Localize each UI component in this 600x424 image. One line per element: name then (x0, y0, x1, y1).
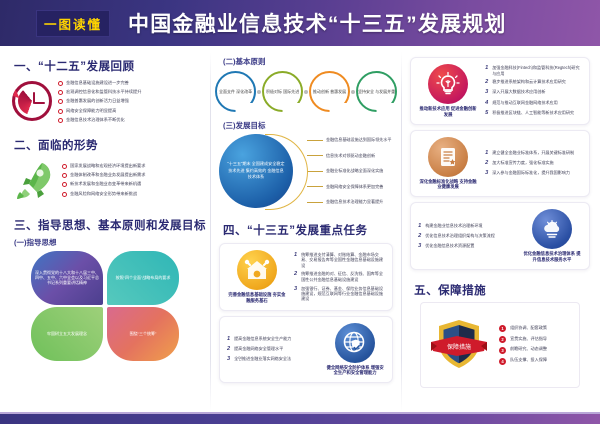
list-item-label: 深入开展大数据技术应用创新 (492, 89, 545, 94)
item-number: 2 (485, 79, 488, 86)
goal-item-label: 信息技术对领驱动金融创新 (326, 153, 375, 159)
list-item-label: 提高金融信息系统安全生产能力 (234, 336, 291, 341)
section-5-heading: 五、保障措施 (414, 282, 594, 298)
list-item: 3加强银行、证券、基金、保险业务信息基础设施建设，规范互联网等行业金融信息基础设… (294, 286, 385, 302)
development-goals-diagram: “十三五”期末 全国建成安全稳定 技术先进 集约高效的 金融信息技术体系 金融信… (215, 134, 397, 208)
list-item-label: 全면推进金融业落实网络安全法 (234, 356, 291, 361)
item-number: 1 (418, 223, 421, 230)
list-item-label: 加大标准宣传力度，强化标准实施 (492, 160, 553, 165)
list-item: 金融信息基础设施建设进一步完善 (58, 80, 141, 86)
section-3-sub-2: (二)基本原则 (223, 56, 397, 67)
standards-list: 1建立健全金融业标准体系，开展关键标准研制 2加大标准宣传力度，强化标准实施 3… (485, 150, 582, 177)
principle-label: 积极对标 国际先进 (266, 89, 299, 94)
ring-connector (257, 90, 261, 94)
item-number: 5 (485, 110, 488, 117)
left-column: 一、“十二五”发展回顾 金融信息基础设施建设进一步完善 宏观调控信息化和监管科技… (6, 52, 206, 412)
section-2-content: 国家发展战略和宏观经济环境提出新要求 金融体制改革和金融业务发展提出新需求 新技… (6, 157, 206, 203)
ring-connector (351, 90, 355, 94)
guarantee-measures-card: 保障措施 1组织协调、配套政策 2宣贯实施、评估指导 3前瞻研究、动态调整 4队… (420, 302, 580, 388)
task-1-caption: 完善金融信息基础设施 夯实金融服务基石 (227, 292, 287, 304)
globe-shield-icon (335, 323, 375, 363)
task-2-caption: 健全网络安全防护体系 增强安全生产和安全管理能力 (325, 365, 385, 377)
connector-line (307, 202, 323, 203)
list-item-label: 提高金融网络安全管理水平 (234, 346, 283, 351)
infographic-board: 一、“十二五”发展回顾 金融信息基础设施建设进一步完善 宏观调控信息化和监管科技… (0, 46, 600, 412)
petal-4: 围绕“三个统筹” (107, 307, 179, 361)
list-item-label: 金融普惠发展的创新活力日益增强 (66, 98, 129, 103)
item-number: 3 (227, 356, 230, 363)
lightbulb-icon-block: 推动新技术应用 促进金融创新发展 (418, 64, 478, 118)
task-2-list: 1提高金融信息系统安全生产能力 2提高金融网络安全管理水平 3全면推进金融业落实… (227, 336, 318, 363)
list-item: 2宣贯实施、评估指导 (499, 336, 573, 344)
cloud-icon-block: 优化金融信息技术治理体系 提升信息技术服务水平 (522, 209, 582, 263)
section-3-sub-1: (一)指导思想 (14, 237, 206, 248)
lightbulb-list: 1加强金融科技(Fintech)和监管科技(Regtech)研究与应用 2稳步推… (485, 65, 582, 116)
item-number: 1 (485, 65, 488, 72)
bullet-dot-icon (62, 182, 67, 187)
column-divider (401, 52, 402, 412)
task-1-icon-block: 完善金融信息基础设施 夯实金融服务基石 (227, 250, 287, 304)
item-number: 1 (485, 150, 488, 157)
list-item: 3前瞻研究、动态调整 (499, 346, 573, 354)
standards-caption: 深化金融标准化战略 支持金融业健康发展 (418, 179, 478, 191)
list-item: 1统筹推进支付清算、对账结算、金融市场交易、交易报告库等全国性金融信息基础设施建… (294, 252, 385, 268)
section-4-heading: 四、“十三五”发展重点任务 (223, 222, 397, 238)
goal-item: 金融业标准化战略全面深化实施 (307, 168, 392, 174)
list-item: 3优化金融信息技术资源配置 (418, 243, 515, 250)
header-badge: 一图读懂 (36, 10, 110, 37)
list-item-label: 统筹推进金融的对、征信、反洗钱、国库等全国性公共金融信息基础设施建设 (301, 271, 385, 282)
item-number: 1 (499, 325, 506, 332)
list-item: 金融体制改革和金融业务发展提出新需求 (62, 172, 145, 178)
goal-item: 金融网络安全保障体系更加完善 (307, 184, 392, 190)
task-card-1: 完善金融信息基础设施 夯实金融服务基石 1统筹推进支付清算、对账结算、金融市场交… (219, 243, 393, 311)
section-1-heading: 一、“十二五”发展回顾 (14, 58, 206, 74)
list-item: 3全면推进金融业落实网络安全法 (227, 356, 318, 363)
item-number: 4 (485, 100, 488, 107)
list-item-label: 深入参与金融国际标准化，提升我国影响力 (492, 170, 570, 175)
list-item: 1加强金融科技(Fintech)和监管科技(Regtech)研究与应用 (485, 65, 582, 76)
bank-building-icon (237, 250, 277, 290)
bullet-dot-icon (62, 192, 67, 197)
list-item: 2加大标准宣传力度，强化标准实施 (485, 160, 582, 167)
section-2-list: 国家发展战略和宏观经济环境提出新要求 金融体制改革和金融业务发展提出新需求 新技… (62, 163, 145, 197)
list-item: 1组织协调、配套政策 (499, 325, 573, 333)
list-item: 3深入开展大数据技术应用创新 (485, 89, 582, 96)
connector-line (307, 140, 323, 141)
list-item-label: 宣贯实施、评估指导 (510, 336, 547, 341)
feature-card-lightbulb: 推动新技术应用 促进金融创新发展 1加强金融科技(Fintech)和监管科技(R… (410, 57, 590, 125)
list-item: 金融普惠发展的创新活力日益增强 (58, 98, 141, 104)
connector-line (307, 155, 323, 156)
task-1-list: 1统筹推进支付清算、对账结算、金融市场交易、交易报告库等全国性金融信息基础设施建… (294, 252, 385, 301)
goal-item-label: 金融网络安全保障体系更加完善 (326, 184, 383, 190)
item-number: 2 (418, 233, 421, 240)
item-number: 2 (485, 160, 488, 167)
item-number: 2 (227, 346, 230, 353)
svg-text:保障措施: 保障措施 (447, 343, 471, 351)
list-item-label: 网络安全保障能力明显提高 (66, 108, 116, 113)
feature-card-governance: 1构建金融业信息技术治理新环境 2优化信息技术治理组织架构与决策流程 3优化金融… (410, 202, 590, 270)
list-item-label: 金融体制改革和金融业务发展提出新需求 (70, 172, 145, 177)
page-footer (0, 412, 600, 424)
list-item-label: 组织协调、配套政策 (510, 325, 547, 330)
principle-ring-4: 坚持安全 与发展并重 (356, 71, 397, 112)
principle-ring-2: 积极对标 国际先进 (262, 71, 303, 112)
task-card-2: 1提高金融信息系统安全生产能力 2提高金融网络安全管理水平 3全면推进金融业落实… (219, 316, 393, 384)
bullet-dot-icon (62, 164, 67, 169)
governance-caption: 优化金融信息技术治理体系 提升信息技术服务水平 (522, 251, 582, 263)
list-item: 3深入参与金融国际标准化，提升我国影响力 (485, 170, 582, 177)
list-item: 宏观调控信息化和监管科技水平持续提升 (58, 89, 141, 95)
principle-label: 推动创新 普惠发展 (313, 89, 346, 94)
list-item: 4规范与推动互联网金融网络技术应用 (485, 100, 582, 107)
list-item: 1提高金融信息系统安全生产能力 (227, 336, 318, 343)
item-number: 4 (499, 358, 506, 365)
list-item-label: 统筹推进支付清算、对账结算、金融市场交易、交易报告库等全国性金融信息基础设施建设 (301, 252, 385, 268)
item-number: 1 (294, 252, 297, 259)
goal-item-label: 金融信息基础设施达到国际领先水平 (326, 137, 392, 143)
clock-icon (12, 81, 52, 121)
right-column: 推动新技术应用 促进金融创新发展 1加强金融科技(Fintech)和监管科技(R… (406, 52, 594, 412)
list-item: 网络安全保障能力明显提高 (58, 108, 141, 114)
page-title: 中国金融业信息技术“十三五”发展规划 (128, 8, 507, 38)
list-item-label: 加强银行、证券、基金、保险业务信息基础设施建设，规范互联网等行业金融信息基础设施… (301, 286, 385, 302)
list-item-label: 金融风险和网络安全形势带来新挑战 (70, 191, 137, 196)
list-item-label: 加强金融科技(Fintech)和监管科技(Regtech)研究与应用 (492, 65, 582, 76)
principle-label: 坚持安全 与发展并重 (358, 89, 395, 94)
item-number: 2 (294, 271, 297, 278)
list-item-label: 积极推进区块链、人工智能等新技术应用研究 (492, 110, 574, 115)
cloud-icon (532, 209, 572, 249)
petal-2: 按照“四个全面”战略布局的要求 (107, 251, 179, 305)
guarantee-list: 1组织协调、配套政策 2宣贯实施、评估指导 3前瞻研究、动态调整 4队伍支撑、投… (499, 325, 573, 365)
connector-line (307, 186, 323, 187)
list-item-label: 优化金融信息技术资源配置 (425, 243, 474, 248)
list-item-label: 金融信息基础设施建设进一步完善 (66, 80, 129, 85)
list-item-label: 前瞻研究、动态调整 (510, 346, 547, 351)
list-item-label: 队伍支撑、投入保障 (510, 357, 547, 362)
section-3-heading: 三、指导思想、基本原则和发展目标 (14, 217, 206, 233)
item-number: 3 (418, 243, 421, 250)
list-item-label: 规范与推动互联网金融网络技术应用 (492, 100, 558, 105)
principle-label: 全面支件 深化改革 (219, 89, 252, 94)
section-3-sub-3: (三)发展目标 (223, 120, 397, 131)
bullet-dot-icon (58, 109, 63, 114)
list-item: 国家发展战略和宏观经济环境提出新要求 (62, 163, 145, 169)
goal-item-label: 金融业标准化战略全面深化实施 (326, 168, 383, 174)
item-number: 3 (485, 89, 488, 96)
section-1-list: 金融信息基础设施建设进一步完善 宏观调控信息化和监管科技水平持续提升 金融普惠发… (58, 80, 141, 123)
section-1-content: 金融信息基础设施建设进一步完善 宏观调控信息化和监管科技水平持续提升 金融普惠发… (6, 78, 206, 125)
list-item-label: 国家发展战略和宏观经济环境提出新要求 (70, 163, 145, 168)
connector-line (307, 171, 323, 172)
list-item-label: 构建金融业信息技术治理新环境 (425, 223, 482, 228)
goal-item: 金融信息技术治理能力显著提升 (307, 199, 392, 205)
list-item: 金融信息技术治理体系不断优化 (58, 117, 141, 123)
middle-column: (二)基本原则 全面支件 深化改革 积极对标 国际先进 推动创新 普惠发展 坚持… (215, 52, 397, 412)
basic-principles-diagram: 全面支件 深化改革 积极对标 国际先进 推动创新 普惠发展 坚持安全 与发展并重 (215, 71, 397, 112)
item-number: 3 (294, 286, 297, 293)
list-item: 金融风险和网络安全形势带来新挑战 (62, 191, 145, 197)
petal-1: 深入贯彻党的十八大和十八届三中、四中、五中、六中全会以及习近平总书记系列重要讲话… (31, 251, 103, 305)
lightbulb-caption: 推动新技术应用 促进金融创新发展 (418, 106, 478, 118)
list-item: 2统筹推进金融的对、征信、反洗钱、国库等全国性公共金融信息基础设施建设 (294, 271, 385, 282)
goal-item-label: 金融信息技术治理能力显著提升 (326, 199, 383, 205)
bullet-dot-icon (58, 81, 63, 86)
list-item: 5积极推进区块链、人工智能等新技术应用研究 (485, 110, 582, 117)
goal-items-list: 金融信息基础设施达到国际领先水平 信息技术对领驱动金融创新 金融业标准化战略全面… (307, 134, 392, 208)
document-star-icon (428, 137, 468, 177)
ring-connector (304, 90, 308, 94)
rocket-icon (12, 159, 56, 201)
list-item: 2优化信息技术治理组织架构与决策流程 (418, 233, 515, 240)
principle-ring-3: 推动创新 普惠发展 (309, 71, 350, 112)
list-item: 新技术发展和金融业态变革带来新机遇 (62, 181, 145, 187)
goal-item: 金融信息基础设施达到国际领先水平 (307, 137, 392, 143)
bullet-dot-icon (58, 99, 63, 104)
list-item-label: 建立健全金融业标准体系，开展关键标准研制 (492, 150, 574, 155)
bullet-dot-icon (58, 118, 63, 123)
petal-3: 牢固树立五大发展理念 (31, 307, 103, 361)
page-header: 一图读懂 中国金融业信息技术“十三五”发展规划 (0, 0, 600, 46)
list-item-label: 新技术发展和金融业态变革带来新机遇 (70, 181, 141, 186)
list-item-label: 优化信息技术治理组织架构与决策流程 (425, 233, 495, 238)
list-item-label: 宏观调控信息化和监管科技水平持续提升 (66, 89, 141, 94)
list-item: 2提高金融网络安全管理水平 (227, 346, 318, 353)
item-number: 3 (485, 170, 488, 177)
list-item-label: 金融信息技术治理体系不断优化 (66, 117, 125, 122)
bullet-dot-icon (58, 90, 63, 95)
item-number: 3 (499, 347, 506, 354)
list-item: 1建立健全金融业标准体系，开展关键标准研制 (485, 150, 582, 157)
item-number: 2 (499, 336, 506, 343)
list-item-label: 稳步推进系统架构和云计算技术应用研究 (492, 79, 566, 84)
lightbulb-icon (428, 64, 468, 104)
list-item: 1构建金融业信息技术治理新环境 (418, 223, 515, 230)
list-item: 4队伍支撑、投入保障 (499, 357, 573, 365)
governance-list: 1构建金融业信息技术治理新环境 2优化信息技术治理组织架构与决策流程 3优化金融… (418, 223, 515, 250)
section-2-heading: 二、面临的形势 (14, 137, 206, 153)
goal-arc-decoration (293, 134, 307, 208)
list-item: 2稳步推进系统架构和云计算技术应用研究 (485, 79, 582, 86)
shield-icon: 保障措施 (427, 316, 491, 374)
feature-card-standards: 深化金融标准化战略 支持金融业健康发展 1建立健全金融业标准体系，开展关键标准研… (410, 130, 590, 198)
document-icon-block: 深化金融标准化战略 支持金融业健康发展 (418, 137, 478, 191)
guiding-thought-diagram: 深入贯彻党的十八大和十八届三中、四中、五中、六中全会以及习近平总书记系列重要讲话… (31, 251, 181, 363)
column-divider (210, 52, 211, 412)
bullet-dot-icon (62, 173, 67, 178)
goal-item: 信息技术对领驱动金融创新 (307, 153, 392, 159)
principle-ring-1: 全面支件 深化改革 (215, 71, 256, 112)
item-number: 1 (227, 336, 230, 343)
task-2-icon-block: 健全网络安全防护体系 增强安全生产和安全管理能力 (325, 323, 385, 377)
